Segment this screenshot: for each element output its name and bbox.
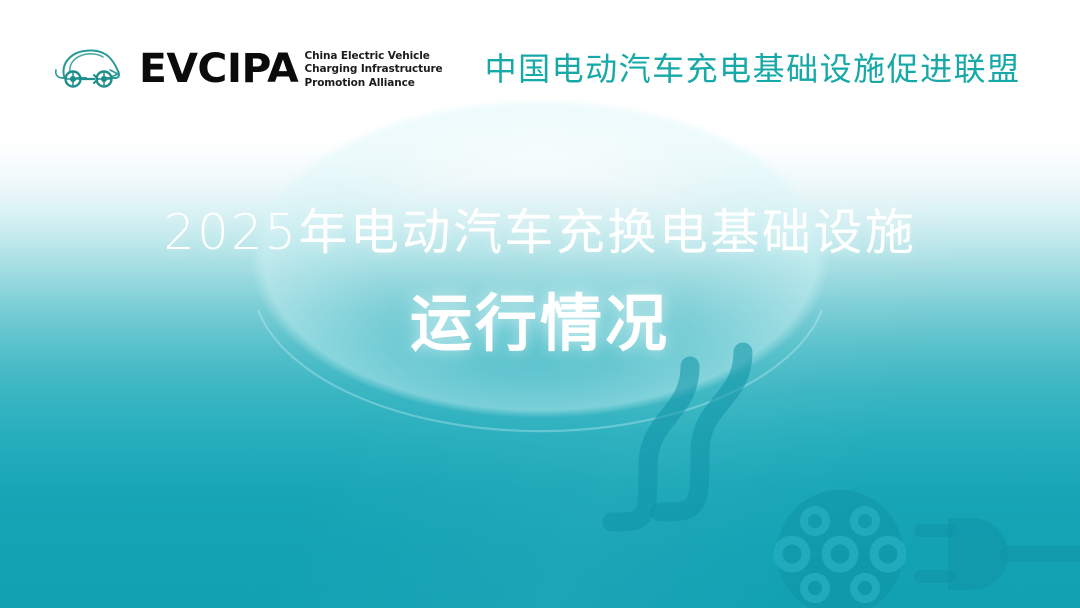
tagline-line-1: China Electric Vehicle <box>305 50 443 63</box>
slide-header: EVCIPA China Electric Vehicle Charging I… <box>0 0 1080 138</box>
tagline-line-3: Promotion Alliance <box>305 77 443 90</box>
slide-title-line-1: 2025年电动汽车充换电基础设施 <box>0 208 1080 257</box>
title-slide: EVCIPA China Electric Vehicle Charging I… <box>0 0 1080 608</box>
title-block: 2025年电动汽车充换电基础设施 运行情况 <box>0 208 1080 355</box>
evcipa-wordmark: EVCIPA <box>139 49 298 89</box>
evcipa-tagline: China Electric Vehicle Charging Infrastr… <box>305 48 443 90</box>
slide-title-line-2: 运行情况 <box>0 293 1080 355</box>
tagline-line-2: Charging Infrastructure <box>305 63 443 76</box>
evcipa-brand-lockup: EVCIPA China Electric Vehicle Charging I… <box>53 44 1020 94</box>
organization-name: 中国电动汽车充电基础设施促进联盟 <box>485 53 1021 85</box>
electric-car-logo-icon <box>53 44 129 94</box>
